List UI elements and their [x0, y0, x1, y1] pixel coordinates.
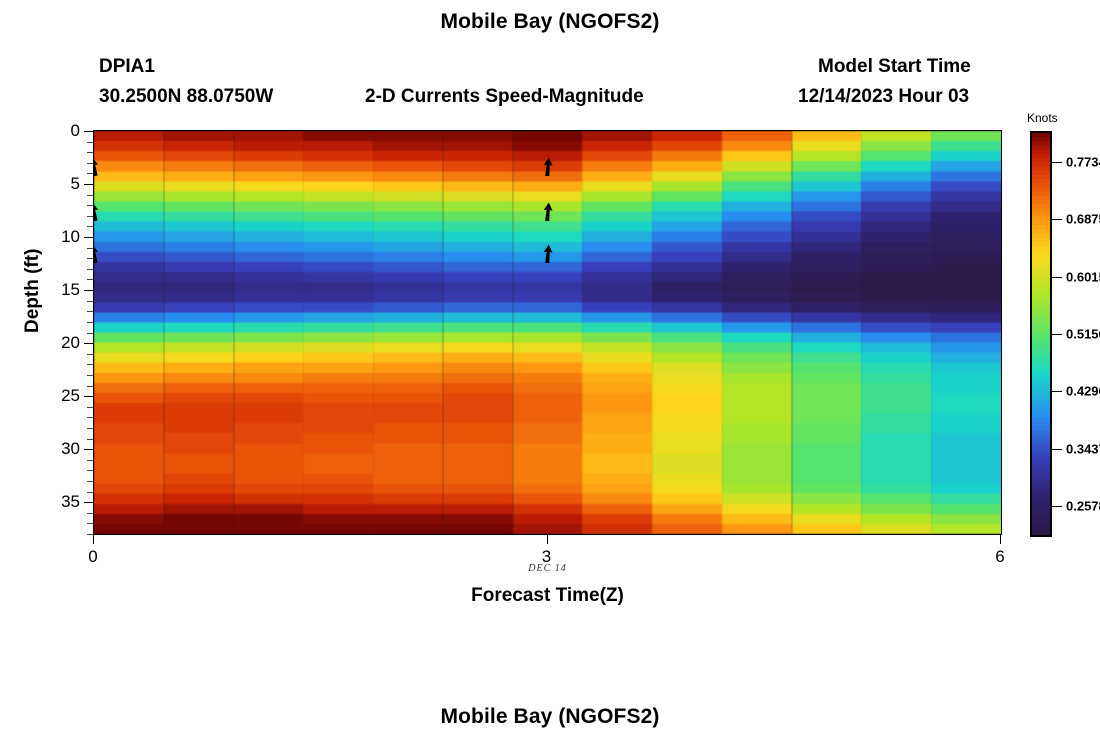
y-axis-tick-minor — [87, 354, 93, 355]
y-axis-tick-major — [84, 184, 93, 185]
colorbar-tick-label: 0.257812 — [1066, 499, 1100, 514]
y-axis-tick-major — [84, 343, 93, 344]
y-axis-tick-minor — [87, 460, 93, 461]
colorbar: 0.7734370.6875000.6015620.5156250.429688… — [1030, 131, 1052, 537]
heatmap-column — [443, 131, 513, 534]
colorbar-tick-label: 0.773437 — [1066, 154, 1100, 169]
heatmap-column — [792, 131, 862, 534]
y-axis-tick-label: 0 — [71, 121, 80, 141]
y-axis-tick-label: 25 — [61, 386, 80, 406]
y-axis-tick-label: 15 — [61, 280, 80, 300]
y-axis-tick-label: 35 — [61, 492, 80, 512]
y-axis-tick-minor — [87, 163, 93, 164]
y-axis-tick-minor — [87, 195, 93, 196]
y-axis-tick-minor — [87, 375, 93, 376]
chart-page: Mobile Bay (NGOFS2) DPIA1 30.2500N 88.07… — [0, 0, 1100, 750]
y-axis-tick-minor — [87, 279, 93, 280]
heatmap-column — [652, 131, 722, 534]
y-axis-tick-minor — [87, 523, 93, 524]
y-axis-tick-minor — [87, 216, 93, 217]
colorbar-tick-label: 0.515625 — [1066, 326, 1100, 341]
colorbar-tick — [1052, 506, 1062, 507]
chart-subtitle: 2-D Currents Speed-Magnitude — [365, 86, 644, 108]
colorbar-tick — [1052, 277, 1062, 278]
y-axis-tick-minor — [87, 142, 93, 143]
y-axis-tick-minor — [87, 152, 93, 153]
heatmap-column — [373, 131, 443, 534]
y-axis-tick-minor — [87, 364, 93, 365]
y-axis-tick-minor — [87, 417, 93, 418]
y-axis-tick-label: 10 — [61, 227, 80, 247]
colorbar-tick — [1052, 162, 1062, 163]
y-axis-tick-minor — [87, 407, 93, 408]
heatmap-column — [303, 131, 373, 534]
colorbar-tick-label: 0.429688 — [1066, 384, 1100, 399]
y-axis-tick-major — [84, 449, 93, 450]
heatmap-column — [513, 131, 583, 534]
x-axis-tick — [1000, 535, 1001, 544]
page-title: Mobile Bay (NGOFS2) — [0, 10, 1100, 34]
model-start-time-value: 12/14/2023 Hour 03 — [798, 86, 969, 108]
station-id-label: DPIA1 — [99, 56, 155, 78]
heatmap-column — [582, 131, 652, 534]
y-axis-tick-minor — [87, 269, 93, 270]
colorbar-tick-label: 0.687500 — [1066, 212, 1100, 227]
y-axis-tick-minor — [87, 470, 93, 471]
y-axis-tick-minor — [87, 173, 93, 174]
y-axis-tick-label: 30 — [61, 439, 80, 459]
heatmap-column — [931, 131, 1001, 534]
secondary-page-title: Mobile Bay (NGOFS2) — [0, 705, 1100, 729]
y-axis-tick-minor — [87, 301, 93, 302]
y-axis-tick-major — [84, 290, 93, 291]
y-axis-tick-minor — [87, 333, 93, 334]
station-coordinates-label: 30.2500N 88.0750W — [99, 86, 273, 108]
y-axis-tick-minor — [87, 492, 93, 493]
colorbar-unit-label: Knots — [1027, 111, 1058, 125]
y-axis-tick-minor — [87, 513, 93, 514]
colorbar-gradient — [1030, 131, 1052, 537]
model-start-time-label: Model Start Time — [818, 56, 971, 78]
y-axis-tick-major — [84, 237, 93, 238]
heatmap-column — [234, 131, 304, 534]
y-axis-tick-minor — [87, 322, 93, 323]
y-axis-tick-minor — [87, 439, 93, 440]
y-axis-title: Depth (ft) — [22, 249, 44, 333]
y-axis-tick-major — [84, 131, 93, 132]
heatmap-column — [861, 131, 931, 534]
heatmap-column — [164, 131, 234, 534]
x-axis-tick — [93, 535, 94, 544]
y-axis-tick-minor — [87, 205, 93, 206]
y-axis-tick-label: 5 — [71, 174, 80, 194]
y-axis-tick-minor — [87, 311, 93, 312]
y-axis-tick-minor — [87, 428, 93, 429]
heatmap-column — [94, 131, 164, 534]
y-axis-tick-minor — [87, 481, 93, 482]
x-axis-title: Forecast Time(Z) — [0, 585, 1095, 607]
y-axis-tick-minor — [87, 226, 93, 227]
y-axis-tick-label: 20 — [61, 333, 80, 353]
y-axis-tick-major — [84, 502, 93, 503]
colorbar-tick — [1052, 391, 1062, 392]
y-axis-tick-major — [84, 396, 93, 397]
y-axis-tick-minor — [87, 248, 93, 249]
colorbar-tick — [1052, 449, 1062, 450]
heatmap-column — [722, 131, 792, 534]
colorbar-tick-label: 0.343750 — [1066, 441, 1100, 456]
x-axis-tick — [547, 535, 548, 544]
colorbar-tick — [1052, 219, 1062, 220]
colorbar-tick-label: 0.601562 — [1066, 269, 1100, 284]
y-axis-tick-minor — [87, 386, 93, 387]
heatmap-plot-area — [93, 130, 1002, 535]
y-axis-tick-minor — [87, 258, 93, 259]
y-axis: 05101520253035 — [0, 130, 93, 536]
x-axis-date-sublabel: DEC 14 — [0, 563, 1095, 574]
colorbar-tick — [1052, 334, 1062, 335]
